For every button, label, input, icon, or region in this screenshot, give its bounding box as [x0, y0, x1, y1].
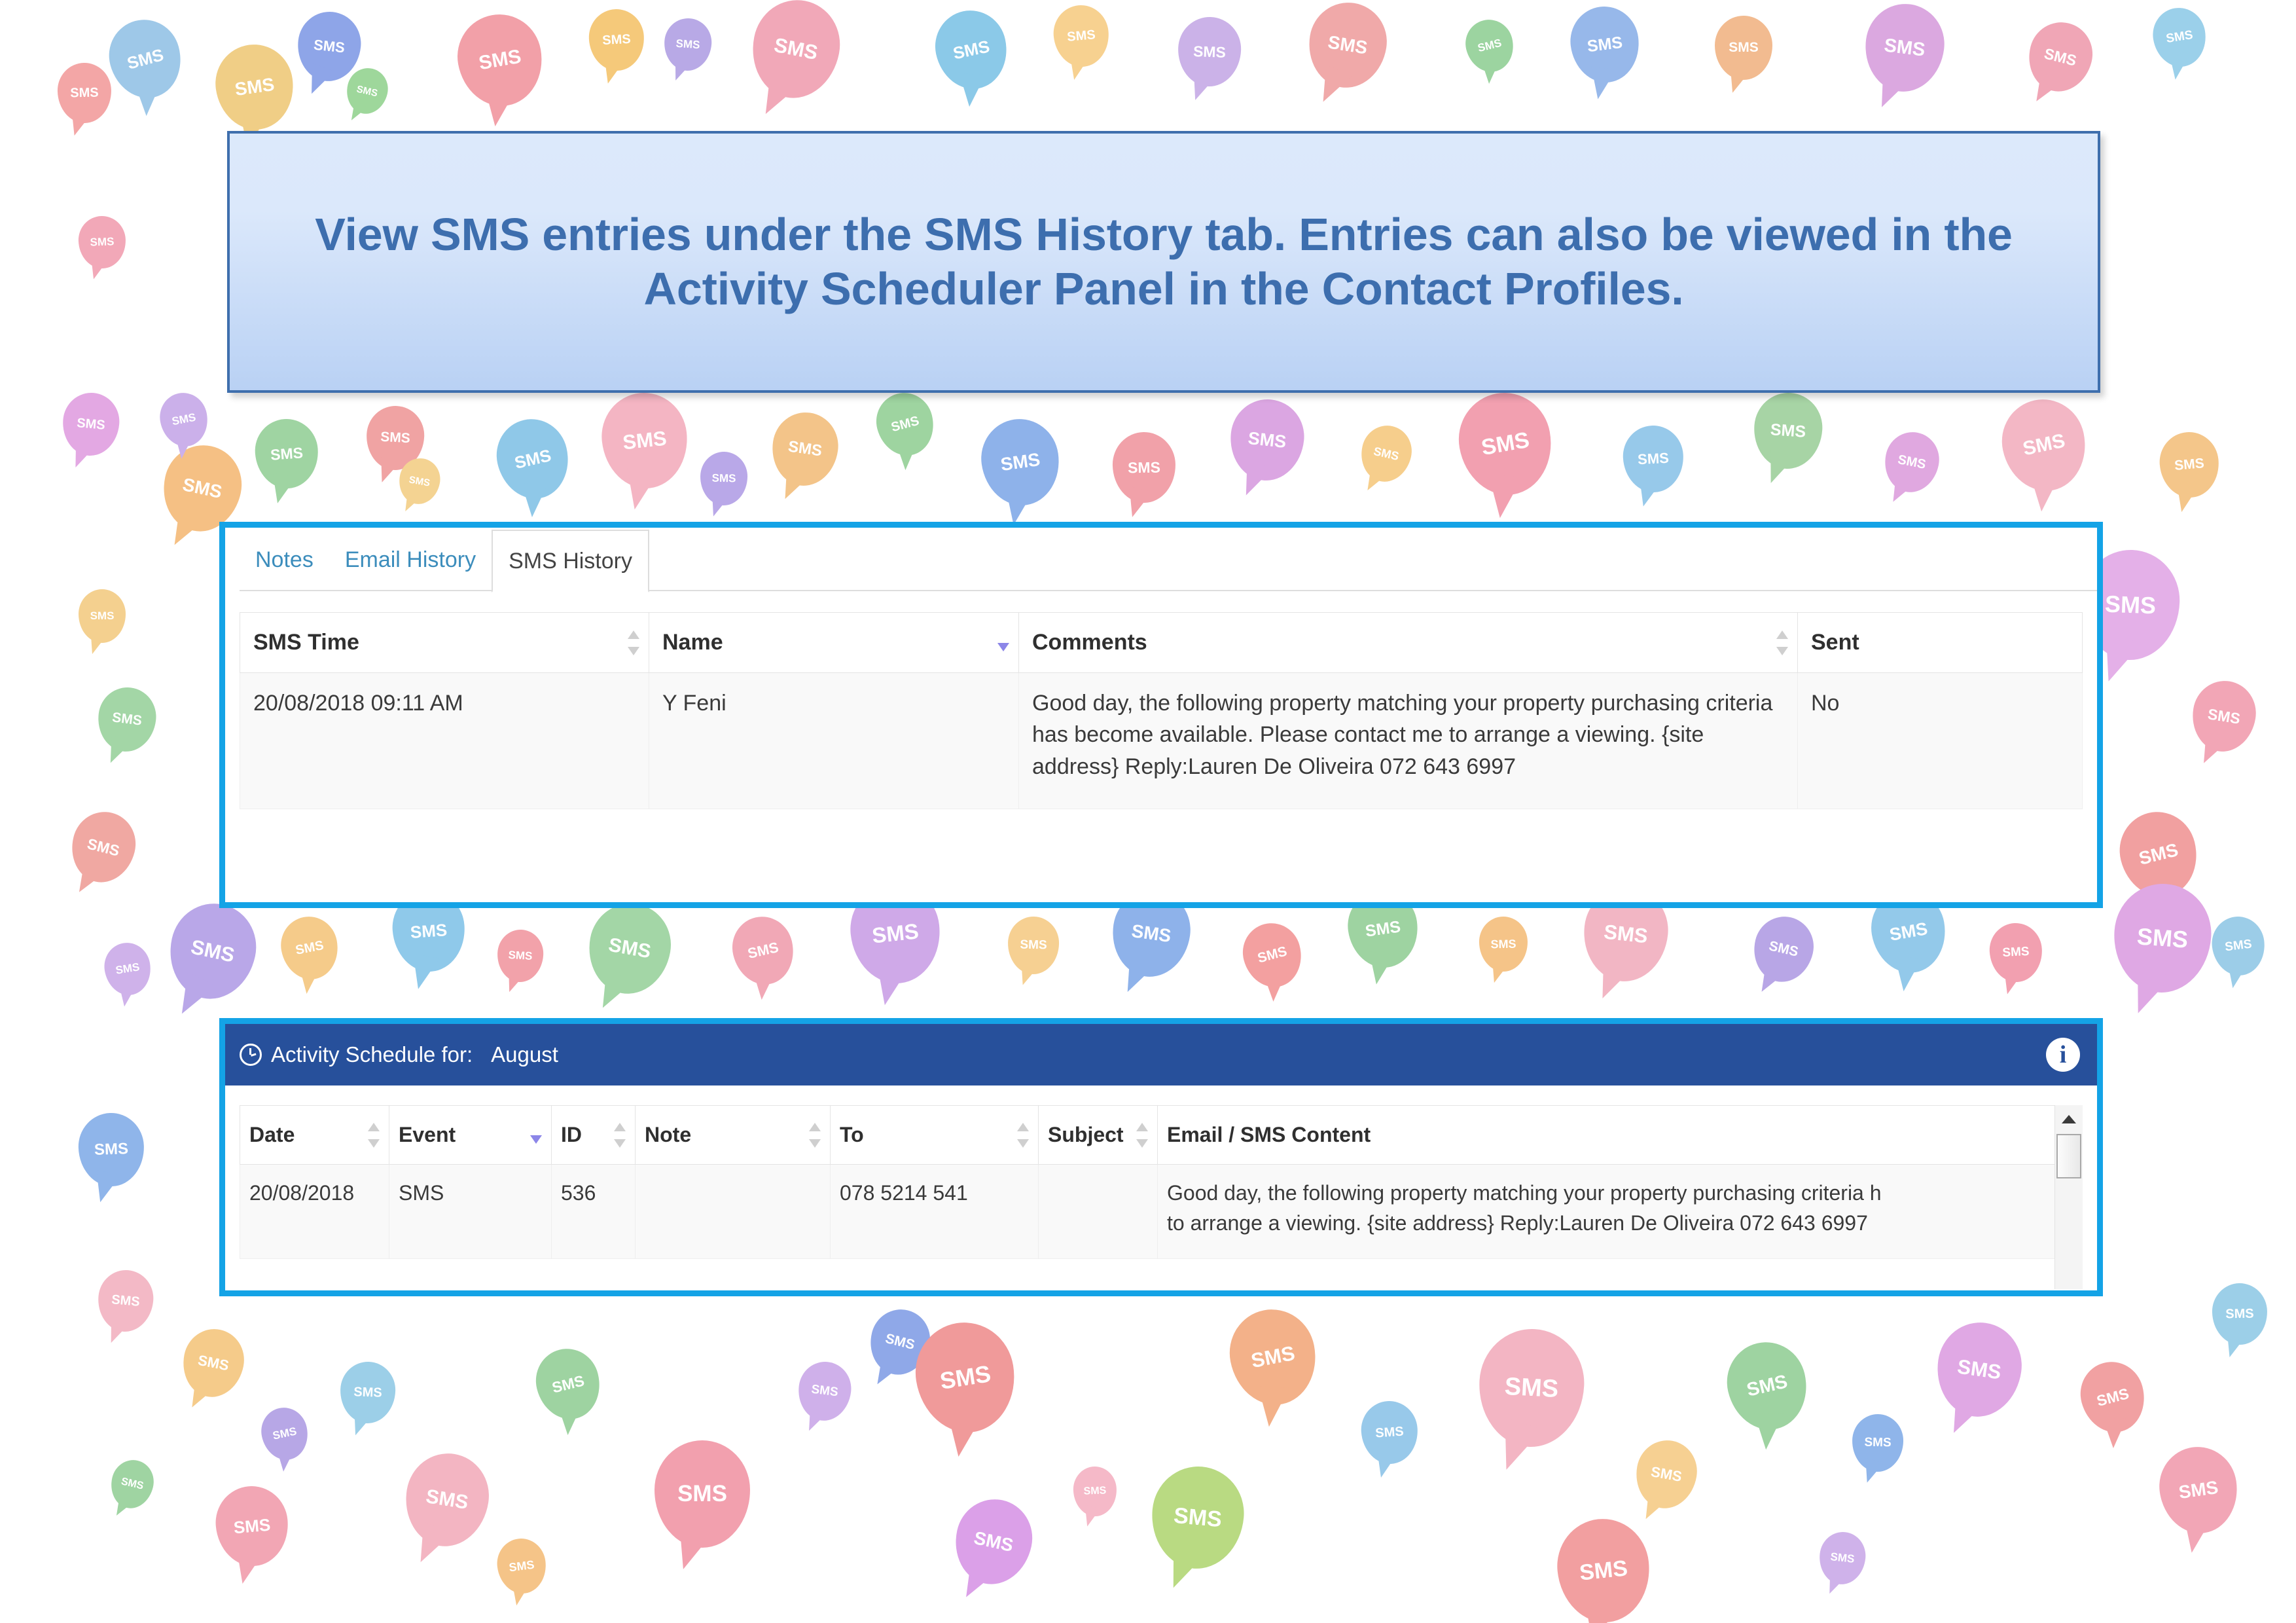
sms-bubble-tail — [86, 630, 107, 656]
sort-icon-to[interactable] — [1017, 1123, 1029, 1148]
sms-bubble-icon: SMS — [1479, 916, 1528, 972]
clock-icon — [240, 1044, 262, 1066]
content-line-2: to arrange a viewing. {site address} Rep… — [1167, 1208, 2073, 1238]
sms-bubble-icon: SMS — [1748, 911, 1820, 988]
table-header-row: Date Event ID Note — [240, 1106, 2083, 1165]
sms-bubble-tail — [346, 101, 368, 124]
tab-notes[interactable]: Notes — [240, 528, 329, 591]
sms-bubble-tail — [753, 972, 776, 1000]
sms-history-panel: Notes Email History SMS History SMS Time — [219, 522, 2103, 908]
sms-bubble-icon: SMS — [1566, 3, 1643, 86]
sms-bubble-tail — [802, 1406, 828, 1435]
sms-bubble-tail — [184, 1378, 216, 1413]
sms-bubble-tail — [1753, 963, 1785, 997]
column-header-comments-label: Comments — [1032, 630, 1147, 655]
sms-bubble-icon: SMS — [213, 1483, 291, 1569]
sms-bubble-icon: SMS — [77, 1112, 145, 1187]
sort-icon-note[interactable] — [809, 1123, 821, 1148]
sms-bubble-icon: SMS — [908, 1315, 1022, 1439]
sms-bubble-tail — [408, 1522, 452, 1569]
sms-bubble-tail — [1372, 1450, 1397, 1480]
sms-bubble-icon: SMS — [1751, 391, 1825, 471]
sms-bubble-tail — [2195, 733, 2228, 769]
sms-bubble-tail — [1160, 1542, 1206, 1594]
tab-strip-filler — [649, 527, 2097, 591]
sms-bubble-icon: SMS — [94, 684, 159, 755]
scrollbar-thumb[interactable] — [2056, 1134, 2081, 1178]
sms-bubble-icon: SMS — [1621, 424, 1685, 494]
column-header-sent-label: Sent — [1811, 630, 1859, 655]
sms-bubble-tail — [347, 1408, 374, 1438]
sms-bubble-icon: SMS — [1236, 917, 1308, 993]
tab-sms-history[interactable]: SMS History — [492, 530, 649, 593]
sms-bubble-tail — [482, 88, 516, 128]
sms-bubble-tail — [1123, 486, 1153, 520]
sms-bubble-tail — [1487, 959, 1509, 985]
sort-icon-sms-time[interactable] — [628, 630, 639, 655]
sms-bubble-icon: SMS — [2212, 1283, 2268, 1345]
sms-bubble-tail — [71, 862, 105, 899]
sms-bubble-icon: SMS — [395, 455, 443, 507]
sms-bubble-icon: SMS — [1222, 1302, 1323, 1412]
sms-bubble-icon: SMS — [79, 589, 126, 643]
sms-bubble-icon: SMS — [365, 405, 425, 471]
sms-bubble-icon: SMS — [1852, 1413, 1904, 1472]
sms-bubble-icon: SMS — [295, 9, 365, 84]
sms-bubble-tail — [503, 969, 526, 994]
column-header-id[interactable]: ID — [552, 1106, 636, 1165]
sms-bubble-tail — [943, 1410, 984, 1459]
sms-bubble-tail — [1263, 975, 1285, 1002]
sms-bubble-icon: SMS — [211, 39, 299, 134]
sms-bubble-icon: SMS — [1988, 922, 2044, 983]
sms-bubble-tail — [268, 473, 296, 506]
sms-bubble-icon: SMS — [529, 1342, 607, 1426]
column-header-email-sms-content[interactable]: Email / SMS Content — [1158, 1106, 2083, 1165]
sms-bubble-icon: SMS — [1073, 1466, 1118, 1517]
sms-bubble-tail — [520, 483, 547, 517]
sms-bubble-icon: SMS — [929, 4, 1014, 96]
sms-bubble-tail — [1482, 62, 1499, 84]
sms-bubble-tail — [175, 436, 193, 459]
column-header-subject-label: Subject — [1048, 1123, 1124, 1146]
sms-bubble-tail — [1893, 957, 1922, 993]
cell-date: 20/08/2018 — [240, 1165, 389, 1259]
sms-bubble-icon: SMS — [582, 897, 677, 1000]
sms-bubble-icon: SMS — [700, 451, 747, 505]
sms-bubble-icon: SMS — [490, 412, 577, 505]
sms-bubble-tail — [1117, 954, 1156, 998]
column-header-id-label: ID — [561, 1123, 582, 1146]
chevron-up-icon[interactable] — [2055, 1105, 2083, 1133]
sms-bubble-tail — [1587, 67, 1616, 101]
sms-bubble-tail — [117, 985, 136, 1008]
sms-bubble-tail — [111, 1495, 134, 1520]
sms-bubble-tail — [1256, 1386, 1289, 1427]
cell-email-sms-content: Good day, the following property matchin… — [1158, 1165, 2083, 1259]
column-header-event-label: Event — [399, 1123, 456, 1146]
sms-bubble-tail — [1590, 957, 1633, 1005]
sms-bubble-icon: SMS — [744, 0, 848, 105]
column-header-date-label: Date — [249, 1123, 295, 1146]
vertical-scrollbar[interactable] — [2054, 1105, 2083, 1289]
sort-icon-comments[interactable] — [1776, 630, 1788, 655]
sms-bubble-icon: SMS — [1817, 1530, 1868, 1587]
sms-bubble-tail — [958, 74, 986, 107]
sms-bubble-icon: SMS — [106, 1456, 158, 1513]
sms-bubble-icon: SMS — [768, 409, 843, 490]
sms-bubble-icon: SMS — [1460, 14, 1518, 77]
sms-bubble-tail — [776, 466, 810, 504]
cell-name: Y Feni — [649, 673, 1019, 809]
sms-bubble-icon: SMS — [2073, 1355, 2153, 1439]
sms-bubble-tail — [622, 468, 658, 512]
sms-bubble-icon: SMS — [1476, 1326, 1587, 1450]
sort-icon-date[interactable] — [368, 1123, 380, 1148]
sort-icon-name[interactable] — [997, 632, 1009, 654]
sms-bubble-icon: SMS — [1112, 431, 1176, 503]
sms-bubble-tail — [509, 1582, 529, 1607]
instruction-callout-text: View SMS entries under the SMS History t… — [230, 208, 2098, 316]
sms-bubble-tail — [1361, 465, 1388, 495]
sms-bubble-icon: SMS — [496, 928, 545, 983]
sms-bubble-icon: SMS — [399, 1448, 495, 1552]
sms-bubble-tail — [1579, 1600, 1619, 1623]
sms-bubble-tail — [1723, 65, 1751, 96]
sms-bubble-icon: SMS — [101, 939, 154, 998]
column-header-email-sms-content-label: Email / SMS Content — [1167, 1123, 1371, 1146]
column-header-name-label: Name — [662, 630, 723, 655]
sms-bubble-icon: SMS — [1860, 0, 1948, 96]
cell-event: SMS — [389, 1165, 552, 1259]
sms-bubble-tail — [232, 1549, 263, 1586]
sms-bubble-tail — [2172, 483, 2198, 514]
cell-comments: Good day, the following property matchin… — [1019, 673, 1798, 809]
sms-bubble-tail — [591, 969, 634, 1015]
sms-bubble-icon: SMS — [1007, 916, 1060, 974]
column-header-note[interactable]: Note — [636, 1106, 831, 1165]
sms-bubble-icon: SMS — [276, 912, 344, 985]
sms-bubble-tail — [897, 444, 918, 471]
sms-bubble-icon: SMS — [1147, 1463, 1247, 1573]
sms-bubble-icon: SMS — [1631, 1436, 1702, 1513]
sms-bubble-icon: SMS — [57, 62, 112, 123]
sms-bubble-icon: SMS — [1452, 386, 1560, 502]
sms-bubble-icon: SMS — [2149, 4, 2210, 70]
sms-bubble-tail — [1491, 1418, 1543, 1476]
sms-bubble-tail — [373, 454, 402, 486]
sms-bubble-tail — [871, 962, 909, 1008]
sms-bubble-tail — [400, 492, 421, 515]
sms-bubble-tail — [1638, 1489, 1670, 1524]
column-header-note-label: Note — [645, 1123, 691, 1146]
sms-bubble-icon: SMS — [1303, 0, 1393, 93]
activity-schedule-panel: Activity Schedule for: August i — [219, 1018, 2103, 1296]
tab-strip: Notes Email History SMS History — [225, 528, 2097, 591]
sms-bubble-icon: SMS — [2154, 1442, 2242, 1538]
table-header-row: SMS Time Name Comments Sent — [240, 613, 2083, 673]
sms-bubble-icon: SMS — [2187, 676, 2261, 756]
cell-to: 078 5214 541 — [831, 1165, 1039, 1259]
sms-bubble-tail — [1366, 952, 1395, 987]
sms-bubble-tail — [67, 440, 95, 471]
sms-bubble-icon: SMS — [156, 389, 212, 450]
sms-bubble-icon: SMS — [870, 387, 941, 462]
sms-bubble-tail — [1859, 1458, 1884, 1486]
sms-bubble-icon: SMS — [96, 1268, 156, 1334]
column-header-date[interactable]: Date — [240, 1106, 389, 1165]
sms-bubble-tail — [1081, 1505, 1101, 1528]
sms-bubble-tail — [1886, 475, 1914, 507]
sms-bubble-icon: SMS — [342, 64, 392, 118]
sms-bubble-tail — [1486, 475, 1522, 519]
table-row[interactable]: 20/08/2018 09:11 AM Y Feni Good day, the… — [240, 673, 2083, 809]
sort-icon-event[interactable] — [530, 1124, 542, 1146]
sms-bubble-tail — [1761, 450, 1794, 487]
sms-bubble-icon: SMS — [1227, 395, 1308, 484]
sms-bubble-tail — [87, 257, 108, 282]
sms-bubble-tail — [2103, 1419, 2127, 1449]
sms-bubble-icon: SMS — [253, 417, 320, 490]
info-icon[interactable]: i — [2046, 1038, 2080, 1072]
activity-schedule-table: Date Event ID Note — [240, 1105, 2083, 1259]
sms-bubble-icon: SMS — [1880, 428, 1944, 497]
sms-bubble-tail — [2000, 969, 2023, 996]
sms-bubble-tail — [1015, 960, 1039, 988]
sms-bubble-tail — [2028, 71, 2062, 108]
sms-bubble-tail — [956, 1560, 996, 1604]
sms-bubble-icon: SMS — [1177, 16, 1242, 87]
sms-bubble-tail — [1312, 65, 1352, 109]
sms-bubble-tail — [753, 71, 800, 122]
column-header-name[interactable]: Name — [649, 613, 1019, 673]
sms-bubble-icon: SMS — [1359, 1399, 1420, 1466]
sms-bubble-icon: SMS — [1719, 1334, 1815, 1438]
sms-bubble-icon: SMS — [863, 1304, 937, 1381]
table-row[interactable]: 20/08/2018 SMS 536 078 5214 541 Good day… — [240, 1165, 2083, 1259]
sms-bubble-icon: SMS — [588, 8, 646, 72]
sms-bubble-icon: SMS — [1931, 1317, 2028, 1422]
sms-bubble-icon: SMS — [976, 414, 1064, 510]
activity-schedule-month: August — [491, 1042, 558, 1067]
sms-bubble-tail — [2123, 966, 2172, 1020]
cell-subject — [1039, 1165, 1158, 1259]
sms-bubble-icon: SMS — [1994, 392, 2094, 498]
sms-bubble-tail — [2147, 881, 2175, 916]
sms-bubble-icon: SMS — [257, 1404, 312, 1465]
cell-sent: No — [1798, 673, 2083, 809]
tab-email-history[interactable]: Email History — [329, 528, 492, 591]
sms-bubble-tail — [101, 735, 132, 767]
column-header-sms-time-label: SMS Time — [253, 630, 359, 655]
sms-bubble-icon: SMS — [339, 1361, 396, 1425]
cell-id-link[interactable]: 536 — [552, 1165, 636, 1259]
sms-bubble-tail — [2225, 963, 2246, 989]
activity-schedule-header: Activity Schedule for: August i — [225, 1024, 2097, 1085]
sms-bubble-tail — [1066, 54, 1090, 82]
instruction-callout: View SMS entries under the SMS History t… — [227, 131, 2100, 393]
sms-bubble-icon: SMS — [2110, 881, 2214, 996]
sms-bubble-icon: SMS — [948, 1492, 1039, 1591]
sms-bubble-icon: SMS — [177, 1324, 249, 1402]
sms-bubble-tail — [276, 1450, 294, 1472]
content-line-1: Good day, the following property matchin… — [1167, 1178, 2073, 1208]
sms-bubble-tail — [869, 1356, 901, 1391]
sms-bubble-tail — [298, 967, 320, 994]
sms-bubble-tail — [1823, 1571, 1846, 1597]
activity-schedule-title: Activity Schedule for: — [271, 1042, 473, 1067]
sms-bubble-icon: SMS — [726, 911, 800, 991]
sms-bubble-icon: SMS — [1552, 1514, 1655, 1623]
column-header-event[interactable]: Event — [389, 1106, 552, 1165]
sms-bubble-tail — [134, 83, 161, 117]
sms-bubble-icon: SMS — [1355, 421, 1416, 487]
column-header-comments[interactable]: Comments — [1019, 613, 1798, 673]
column-header-to[interactable]: To — [831, 1106, 1039, 1165]
sms-bubble-tail — [707, 493, 729, 519]
sms-bubble-tail — [669, 58, 692, 83]
sms-bubble-icon: SMS — [795, 1359, 854, 1423]
cell-sms-time: 20/08/2018 09:11 AM — [240, 673, 649, 809]
sms-bubble-tail — [558, 1406, 582, 1435]
sms-bubble-tail — [1634, 477, 1661, 509]
sms-bubble-icon: SMS — [494, 1536, 549, 1596]
sms-bubble-tail — [1001, 488, 1033, 526]
sms-bubble-tail — [2221, 1330, 2247, 1360]
sms-bubble-tail — [2168, 55, 2189, 81]
column-header-subject[interactable]: Subject — [1039, 1106, 1158, 1165]
sms-bubble-tail — [1186, 69, 1217, 103]
sms-bubble-tail — [66, 109, 92, 138]
sms-bubble-icon: SMS — [161, 896, 264, 1007]
column-header-sent[interactable]: Sent — [1798, 613, 2083, 673]
sms-bubble-icon: SMS — [78, 215, 127, 269]
sms-bubble-tail — [164, 507, 205, 552]
sms-bubble-icon: SMS — [598, 389, 692, 493]
column-header-sms-time[interactable]: SMS Time — [240, 613, 649, 673]
sms-bubble-icon: SMS — [2022, 16, 2100, 98]
sms-bubble-tail — [1753, 1413, 1784, 1450]
sms-bubble-tail — [302, 64, 334, 99]
sort-icon-subject[interactable] — [1136, 1123, 1148, 1148]
sms-bubble-tail — [103, 1316, 130, 1347]
sms-bubble-icon: SMS — [2111, 804, 2206, 905]
cell-note — [636, 1165, 831, 1259]
sms-bubble-icon: SMS — [101, 12, 189, 106]
sort-icon-id[interactable] — [614, 1123, 626, 1148]
sms-bubble-icon: SMS — [1051, 3, 1111, 69]
sms-bubble-icon: SMS — [2157, 429, 2221, 500]
sms-bubble-tail — [600, 57, 624, 86]
sms-bubble-tail — [170, 972, 216, 1022]
sms-bubble-tail — [90, 1170, 121, 1205]
sms-bubble-icon: SMS — [60, 390, 122, 458]
sms-bubble-tail — [2028, 473, 2060, 513]
sms-bubble-icon: SMS — [655, 1440, 750, 1548]
sms-history-table: SMS Time Name Comments Sent — [240, 612, 2083, 809]
sms-bubble-tail — [1236, 460, 1272, 501]
sms-bubble-icon: SMS — [1715, 16, 1772, 80]
sms-bubble-icon: SMS — [451, 8, 549, 113]
sms-bubble-tail — [2179, 1516, 2212, 1554]
sms-bubble-icon: SMS — [2209, 913, 2268, 978]
sms-bubble-tail — [407, 954, 439, 992]
column-header-to-label: To — [840, 1123, 864, 1146]
sms-bubble-tail — [669, 1523, 715, 1575]
sms-bubble-icon: SMS — [64, 805, 142, 889]
sms-bubble-tail — [1941, 1392, 1985, 1440]
sms-bubble-icon: SMS — [662, 17, 713, 73]
sms-bubble-tail — [1870, 69, 1910, 113]
